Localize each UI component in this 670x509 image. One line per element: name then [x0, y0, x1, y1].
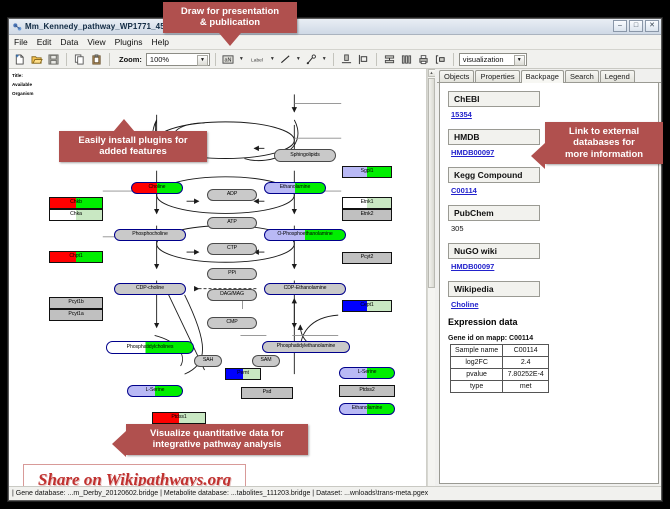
node-label: DAG/MAG: [220, 292, 244, 297]
gene-id-line: Gene id on mapp: C00114: [448, 335, 652, 342]
cell-key: log2FC: [451, 357, 503, 369]
callout-share: Share on Wikipathways.org: [23, 464, 246, 486]
label-icon[interactable]: Label: [247, 52, 267, 67]
pathway-node-chka[interactable]: Chka: [49, 209, 103, 221]
node-label: CDP-choline: [136, 286, 164, 291]
section-heading-kegg: Kegg Compound: [448, 167, 540, 183]
table-row: pvalue 7.80252E-4: [451, 369, 549, 381]
pathway-node-ptdss1[interactable]: Ptdss1: [152, 412, 206, 424]
node-label: Phosphatidylethanolamine: [277, 344, 335, 349]
toolbar-separator-3: [215, 53, 216, 66]
callout-links: Link to external databases for more info…: [545, 122, 663, 164]
tab-legend[interactable]: Legend: [600, 70, 635, 82]
tab-properties[interactable]: Properties: [475, 70, 519, 82]
node-label: Phosphatidylcholines: [127, 345, 174, 350]
save-icon[interactable]: [46, 52, 61, 67]
panel-tabstrip: Objects Properties Backpage Search Legen…: [437, 69, 661, 83]
pathway-node-l-serine-right[interactable]: L-Serine: [339, 367, 395, 379]
callout-visualize: Visualize quantitative data for integrat…: [126, 424, 308, 455]
zoom-label: Zoom:: [119, 55, 142, 64]
callout-plugins: Easily install plugins for added feature…: [59, 131, 207, 162]
menu-item-view[interactable]: View: [86, 37, 106, 47]
pathway-node-etnk2[interactable]: Etnk2: [342, 209, 392, 221]
window-controls: – □ ✕: [613, 20, 659, 32]
node-label: ADP: [227, 192, 237, 197]
node-label: Sphingolipids: [290, 153, 320, 158]
canvas-vertical-scrollbar[interactable]: ▲: [427, 69, 435, 486]
align-left-icon[interactable]: [356, 52, 371, 67]
pathway-node-pcyt2[interactable]: Pcyt2: [342, 252, 392, 264]
toolbar-separator: [66, 53, 67, 66]
pathway-node-chkb[interactable]: Chkb: [49, 197, 103, 209]
pathway-node-cdp-choline[interactable]: CDP-choline: [114, 283, 186, 295]
pathway-node-dag-mag[interactable]: DAG/MAG: [207, 289, 257, 301]
pathway-node-phosphatidylcholines[interactable]: Phosphatidylcholines: [106, 341, 194, 354]
new-file-icon[interactable]: [12, 52, 27, 67]
pathway-node-phosphatidylethanolamine[interactable]: Phosphatidylethanolamine: [262, 341, 350, 353]
cell-value: 7.80252E-4: [503, 369, 549, 381]
group-icon[interactable]: [433, 52, 448, 67]
callout-links-line3: more information: [553, 149, 655, 160]
node-label: CTP: [227, 246, 237, 251]
pathway-node-sphingolipids[interactable]: Sphingolipids: [274, 149, 336, 162]
menu-item-edit[interactable]: Edit: [36, 37, 53, 47]
visualization-value: visualization: [463, 55, 504, 64]
pathway-node-etnk1[interactable]: Etnk1: [342, 197, 392, 209]
menu-item-file[interactable]: File: [13, 37, 29, 47]
section-heading-hmdb: HMDB: [448, 129, 540, 145]
pathway-node-choline-top[interactable]: Choline: [131, 182, 183, 194]
cell-key: pvalue: [451, 369, 503, 381]
print-icon[interactable]: [416, 52, 431, 67]
node-label: SAM: [261, 358, 272, 363]
cell-value: C00114: [503, 345, 549, 357]
node-label: Pcyt1b: [68, 300, 83, 305]
menu-bar: File Edit Data View Plugins Help: [9, 35, 661, 50]
pathway-node-phosphocholine[interactable]: Phosphocholine: [114, 229, 186, 241]
pathway-node-sah[interactable]: SAH: [194, 355, 222, 367]
callout-links-arrow-icon: [531, 143, 545, 169]
svg-text:aN: aN: [225, 57, 232, 63]
toolbar-separator-5: [376, 53, 377, 66]
svg-text:Label: Label: [251, 57, 263, 63]
table-row: log2FC 2.4: [451, 357, 549, 369]
anchor-dropdown-caret[interactable]: ▼: [322, 56, 327, 62]
scrollbar-thumb[interactable]: [428, 78, 435, 288]
node-label: Ethanolamine: [352, 406, 383, 411]
line-icon[interactable]: [278, 52, 293, 67]
link-wikipedia[interactable]: Choline: [451, 300, 652, 309]
node-label: Etnk2: [361, 212, 374, 217]
pathway-node-psd[interactable]: Psd: [241, 387, 293, 399]
pathway-node-cdp-ethanolamine[interactable]: CDP-Ethanolamine: [264, 283, 346, 295]
visualization-combo[interactable]: visualization ▼: [459, 53, 527, 66]
maximize-button[interactable]: □: [629, 20, 643, 32]
stack-icon[interactable]: [382, 52, 397, 67]
section-heading-pubchem: PubChem: [448, 205, 540, 221]
visualization-chevron-down-icon[interactable]: ▼: [514, 55, 525, 66]
datanode-dropdown-caret[interactable]: ▼: [239, 56, 244, 62]
node-label: L-Serine: [146, 388, 165, 393]
tab-search[interactable]: Search: [565, 70, 599, 82]
open-folder-icon[interactable]: [29, 52, 44, 67]
minimize-button[interactable]: –: [613, 20, 627, 32]
section-heading-nugo: NuGO wiki: [448, 243, 540, 259]
node-label: Chkb: [70, 200, 82, 205]
node-label: Chpt1: [69, 254, 82, 259]
callout-draw: Draw for presentation & publication: [163, 2, 297, 33]
callout-links-line2: databases for: [553, 137, 655, 148]
node-label: Chka: [70, 212, 82, 217]
pathway-canvas[interactable]: Title: Available Organism: [9, 69, 427, 486]
datanode-icon[interactable]: aN: [221, 52, 236, 67]
pathway-node-sgpl1[interactable]: Sgpl1: [342, 166, 392, 178]
label-dropdown-caret[interactable]: ▼: [270, 56, 275, 62]
chevron-down-icon[interactable]: ▼: [197, 55, 208, 66]
align-bottom-icon[interactable]: [339, 52, 354, 67]
app-icon: [12, 22, 22, 32]
cell-value: met: [503, 381, 549, 393]
callout-draw-line2: & publication: [171, 17, 289, 28]
distribute-icon[interactable]: [399, 52, 414, 67]
pathway-node-ppi[interactable]: PPi: [207, 268, 257, 280]
anchor-line-icon[interactable]: [304, 52, 319, 67]
pathway-node-ethanolamine-bottom[interactable]: Ethanolamine: [339, 403, 395, 415]
node-label: Ptdss2: [359, 388, 374, 393]
toolbar-separator-4: [333, 53, 334, 66]
copy-icon[interactable]: [72, 52, 87, 67]
pathway-node-ctp[interactable]: CTP: [207, 243, 257, 255]
pathway-node-sam[interactable]: SAM: [252, 355, 280, 367]
table-row: Sample name C00114: [451, 345, 549, 357]
status-text: | Gene database: ...m_Derby_20120602.bri…: [12, 490, 428, 497]
callout-share-text: Share on Wikipathways.org: [38, 470, 231, 486]
pathway-node-chpt1[interactable]: Chpt1: [49, 251, 103, 263]
zoom-combo[interactable]: 100% ▼: [146, 53, 210, 66]
menu-item-plugins[interactable]: Plugins: [114, 37, 144, 47]
node-label: Pcyt1a: [68, 312, 83, 317]
pathway-node-ptdss2[interactable]: Ptdss2: [339, 385, 395, 397]
callout-visualize-line1: Visualize quantitative data for: [134, 428, 300, 439]
callout-plugins-line2: added features: [67, 146, 199, 157]
table-row: type met: [451, 381, 549, 393]
callout-draw-line1: Draw for presentation: [171, 6, 289, 17]
pathway-node-o-phosphoethanolamine[interactable]: O-Phosphoethanolamine: [264, 229, 346, 241]
node-label: SAH: [203, 358, 213, 363]
expression-table: Sample name C00114 log2FC 2.4 pvalue 7.8…: [450, 344, 549, 393]
section-heading-wikipedia: Wikipedia: [448, 281, 540, 297]
node-label: Sgpl1: [361, 169, 374, 174]
toolbar-separator-6: [453, 53, 454, 66]
pathvisio-window: Mm_Kennedy_pathway_WP1771_45176.gpml – □…: [8, 18, 662, 501]
callout-links-line1: Link to external: [553, 126, 655, 137]
pathway-node-pcyt1a[interactable]: Pcyt1a: [49, 309, 103, 321]
pathway-node-ethanolamine-top[interactable]: Ethanolamine: [264, 182, 326, 194]
node-label: PPi: [228, 271, 236, 276]
pathway-node-pemt[interactable]: Pemt: [225, 368, 261, 380]
cell-key: Sample name: [451, 345, 503, 357]
node-label: Phosphocholine: [132, 232, 168, 237]
node-label: Pcyt2: [361, 255, 373, 260]
node-label: Ethanolamine: [280, 185, 311, 190]
cell-value: 2.4: [503, 357, 549, 369]
menu-item-data[interactable]: Data: [59, 37, 79, 47]
callout-visualize-arrow-icon: [112, 431, 126, 457]
link-kegg[interactable]: C00114: [451, 186, 652, 195]
menu-item-help[interactable]: Help: [151, 37, 170, 47]
pathway-node-cmp[interactable]: CMP: [207, 317, 257, 329]
callout-plugins-arrow-icon: [113, 119, 135, 132]
callout-plugins-line1: Easily install plugins for: [67, 135, 199, 146]
node-label: O-Phosphoethanolamine: [277, 232, 332, 237]
cell-key: type: [451, 381, 503, 393]
pathway-node-pcyt1b[interactable]: Pcyt1b: [49, 297, 103, 309]
node-label: Choline: [149, 185, 166, 190]
toolbar-separator-2: [109, 53, 110, 66]
title-bar: Mm_Kennedy_pathway_WP1771_45176.gpml – □…: [9, 19, 661, 35]
node-label: Pemt: [237, 371, 249, 376]
node-label: ATP: [227, 220, 236, 225]
pathway-node-cept1[interactable]: Cept1: [342, 300, 392, 312]
link-nugo[interactable]: HMDB00097: [451, 262, 652, 271]
tab-objects[interactable]: Objects: [439, 70, 474, 82]
toolbar: Zoom: 100% ▼ aN ▼ Label ▼ ▼ ▼: [9, 50, 661, 69]
line-dropdown-caret[interactable]: ▼: [296, 56, 301, 62]
pathway-node-l-serine-left[interactable]: L-Serine: [127, 385, 183, 397]
node-label: CDP-Ethanolamine: [284, 286, 327, 291]
node-label: Cept1: [360, 303, 373, 308]
status-bar: | Gene database: ...m_Derby_20120602.bri…: [9, 486, 661, 500]
pathway-node-adp[interactable]: ADP: [207, 189, 257, 201]
section-heading-chebi: ChEBI: [448, 91, 540, 107]
link-chebi[interactable]: 15354: [451, 110, 652, 119]
node-label: CMP: [226, 320, 237, 325]
callout-visualize-line2: integrative pathway analysis: [134, 439, 300, 450]
paste-icon[interactable]: [89, 52, 104, 67]
tab-backpage[interactable]: Backpage: [521, 70, 564, 83]
close-button[interactable]: ✕: [645, 20, 659, 32]
node-label: Psd: [263, 390, 272, 395]
node-label: Ptdss1: [171, 415, 186, 420]
pathway-node-atp[interactable]: ATP: [207, 217, 257, 229]
callout-draw-arrow-icon: [219, 33, 241, 46]
node-label: L-Serine: [358, 370, 377, 375]
zoom-value: 100%: [150, 55, 169, 64]
node-label: Etnk1: [361, 200, 374, 205]
expression-data-title: Expression data: [448, 317, 652, 327]
value-pubchem: 305: [451, 224, 652, 233]
